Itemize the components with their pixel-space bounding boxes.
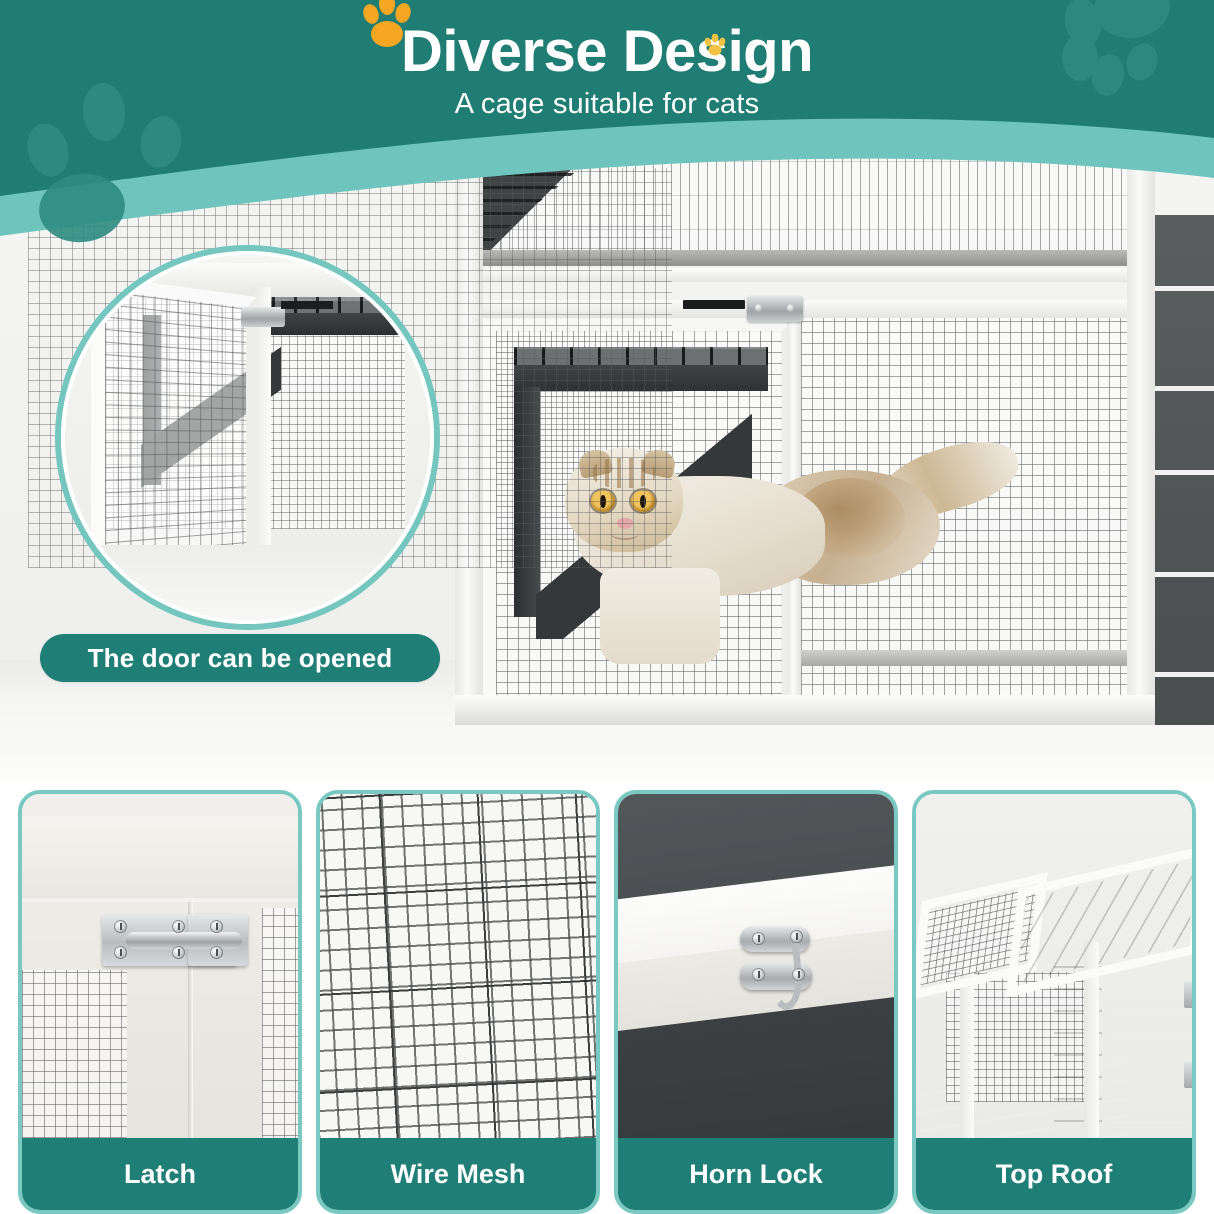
top-roof-open-door (1112, 956, 1190, 1146)
feature-card-wire-mesh[interactable]: Wire Mesh (316, 790, 600, 1214)
cat-eye-left (591, 490, 615, 512)
paw-accent-icon (703, 34, 727, 56)
cat-forehead-markings (593, 458, 655, 488)
latch-top-rail (22, 794, 298, 816)
right-panel-seam-3 (1155, 470, 1214, 475)
door-open-callout (55, 245, 440, 630)
wire-mesh-closeup (320, 794, 596, 1193)
latch-upper-board (22, 818, 298, 898)
door-hinge-icon (747, 296, 803, 322)
cage-post-left (455, 150, 483, 725)
right-panel-seam-2 (1155, 386, 1214, 391)
latch-mesh-right (262, 908, 298, 1158)
callout-photo (65, 255, 430, 620)
screw-icon (210, 920, 223, 933)
callout-floor (65, 545, 430, 620)
upper-run-sill (473, 250, 1133, 266)
interior-shelf-slats (514, 347, 768, 365)
screw-icon (792, 968, 805, 981)
cat-photo-subject (545, 448, 1005, 668)
feature-card-row: Latch Wire Mesh Horn (0, 790, 1214, 1214)
door-strike-bar (683, 300, 745, 309)
screw-icon (790, 930, 803, 943)
right-panel-seam-5 (1155, 672, 1214, 677)
cage-bottom-rail (455, 695, 1155, 725)
top-roof-hinge-icon (1184, 982, 1192, 1008)
title-row: Diverse Design (401, 18, 813, 86)
cat-pupil-left (600, 495, 606, 508)
callout-photo-clip (65, 255, 430, 620)
latch-slide-bolt (126, 932, 242, 949)
screw-icon (752, 968, 765, 981)
screw-icon (114, 920, 127, 933)
cat-eye-right (631, 490, 655, 512)
screw-icon (114, 946, 127, 959)
cage-beam-upper (455, 268, 1155, 282)
page-subtitle: A cage suitable for cats (0, 88, 1214, 121)
cat-head (565, 448, 683, 552)
infographic-page: Diverse Design A cage suitable for cats (0, 0, 1214, 1214)
paw-print-icon (359, 0, 419, 50)
right-panel-seam-1 (1155, 286, 1214, 291)
card-label-wire-mesh: Wire Mesh (320, 1138, 596, 1210)
page-title: Diverse Design (401, 18, 813, 86)
cage-post-right (1127, 150, 1155, 725)
card-label-top-roof: Top Roof (916, 1138, 1192, 1210)
feature-card-top-roof[interactable]: Top Roof (912, 790, 1196, 1214)
callout-strike-bar (281, 301, 333, 309)
cat-pupil-right (640, 495, 646, 508)
right-panel-seam-4 (1155, 572, 1214, 577)
screw-icon (172, 946, 185, 959)
screw-icon (172, 920, 185, 933)
screw-icon (210, 946, 223, 959)
feature-card-horn-lock[interactable]: Horn Lock (614, 790, 898, 1214)
callout-label: The door can be opened (40, 634, 440, 682)
feature-card-latch[interactable]: Latch (18, 790, 302, 1214)
cage-beam-lower (455, 300, 1155, 318)
card-label-latch: Latch (22, 1138, 298, 1210)
card-label-horn-lock: Horn Lock (618, 1138, 894, 1210)
cat-mouth (611, 528, 639, 540)
latch-mesh-left (22, 970, 127, 1160)
callout-hinge-icon (241, 307, 285, 327)
hero-section: Diverse Design A cage suitable for cats (0, 0, 1214, 780)
header-text-block: Diverse Design A cage suitable for cats (0, 18, 1214, 121)
top-roof-hinge-icon (1184, 1062, 1192, 1088)
cat-front-legs (600, 568, 720, 664)
screw-icon (752, 932, 765, 945)
